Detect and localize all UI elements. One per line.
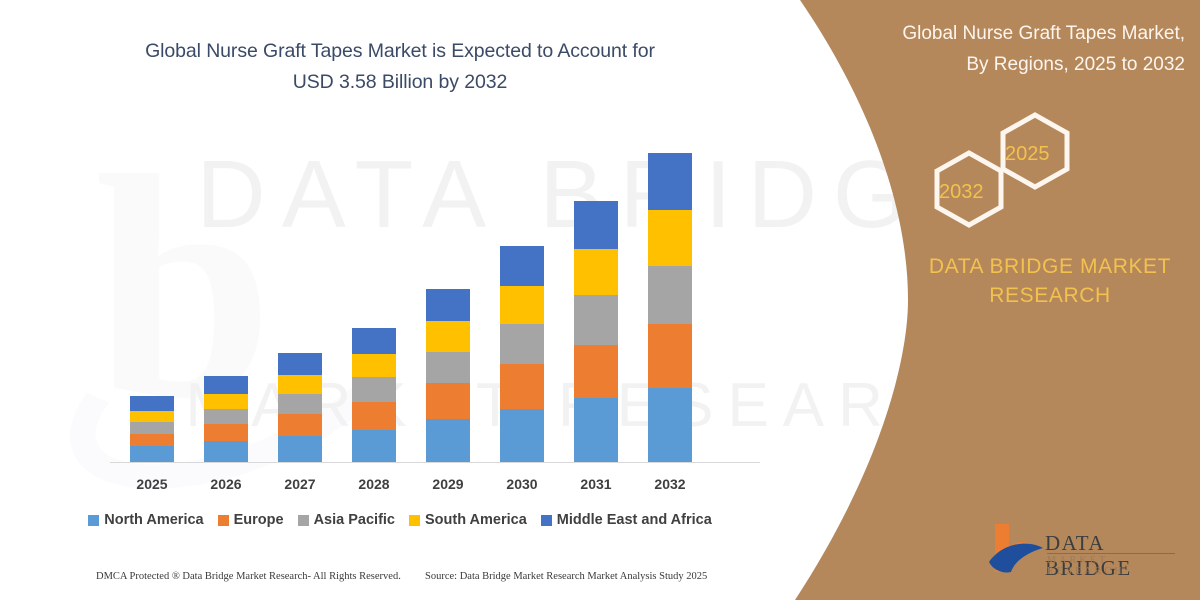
brand-name-line-2: RESEARCH bbox=[989, 284, 1111, 307]
x-axis-label-2026: 2026 bbox=[191, 476, 261, 492]
bar-segment-2029-europe bbox=[426, 383, 470, 418]
infographic-canvas: b DATA BRIDGE MARKET RESEARCH Global Nur… bbox=[0, 0, 1200, 600]
legend-item-europe[interactable]: Europe bbox=[218, 512, 284, 528]
bar-2032 bbox=[648, 153, 692, 462]
legend-item-middle-east-and-africa[interactable]: Middle East and Africa bbox=[541, 512, 712, 528]
legend-swatch-icon bbox=[409, 515, 420, 526]
legend-label: Europe bbox=[234, 512, 284, 528]
bar-segment-2030-south-america bbox=[500, 286, 544, 324]
panel-title-line-2: By Regions, 2025 to 2032 bbox=[966, 54, 1185, 75]
bar-segment-2031-north-america bbox=[574, 398, 618, 462]
x-axis-label-2032: 2032 bbox=[635, 476, 705, 492]
bar-segment-2030-middle-east-and-africa bbox=[500, 246, 544, 286]
footer-copyright: DMCA Protected ® Data Bridge Market Rese… bbox=[96, 571, 401, 582]
bar-segment-2031-south-america bbox=[574, 249, 618, 296]
x-axis-label-2030: 2030 bbox=[487, 476, 557, 492]
bar-segment-2029-asia-pacific bbox=[426, 352, 470, 384]
footer: DMCA Protected ® Data Bridge Market Rese… bbox=[0, 566, 800, 596]
bar-segment-2026-north-america bbox=[204, 441, 248, 462]
x-axis-label-2025: 2025 bbox=[117, 476, 187, 492]
bar-segment-2030-north-america bbox=[500, 409, 544, 463]
legend-swatch-icon bbox=[218, 515, 229, 526]
bar-segment-2029-middle-east-and-africa bbox=[426, 289, 470, 322]
bar-2030 bbox=[500, 246, 544, 462]
bar-2025 bbox=[130, 396, 174, 462]
bar-segment-2025-europe bbox=[130, 434, 174, 447]
dbmr-logo: DATA BRIDGE MARKET RESEARCH bbox=[985, 522, 1185, 584]
chart-pane: Global Nurse Graft Tapes Market is Expec… bbox=[0, 0, 800, 600]
bar-segment-2032-north-america bbox=[648, 388, 692, 462]
bar-segment-2025-south-america bbox=[130, 411, 174, 422]
legend-item-north-america[interactable]: North America bbox=[88, 512, 203, 528]
chart-legend: North AmericaEuropeAsia PacificSouth Ame… bbox=[0, 512, 800, 528]
dbmr-logo-mark-icon bbox=[985, 522, 1047, 580]
bar-segment-2032-south-america bbox=[648, 210, 692, 266]
legend-swatch-icon bbox=[298, 515, 309, 526]
bar-segment-2032-middle-east-and-africa bbox=[648, 153, 692, 210]
bar-segment-2027-middle-east-and-africa bbox=[278, 353, 322, 375]
bar-segment-2028-north-america bbox=[352, 430, 396, 462]
legend-item-south-america[interactable]: South America bbox=[409, 512, 527, 528]
bar-segment-2025-middle-east-and-africa bbox=[130, 396, 174, 411]
bar-2026 bbox=[204, 376, 248, 462]
bar-segment-2026-asia-pacific bbox=[204, 409, 248, 425]
bar-segment-2027-north-america bbox=[278, 436, 322, 462]
bar-segment-2028-middle-east-and-africa bbox=[352, 328, 396, 354]
stacked-bar-chart: 20252026202720282029203020312032 North A… bbox=[0, 0, 800, 600]
bar-segment-2025-asia-pacific bbox=[130, 422, 174, 433]
bar-segment-2032-asia-pacific bbox=[648, 266, 692, 324]
dbmr-logo-subtitle: MARKET RESEARCH bbox=[1047, 555, 1185, 577]
legend-swatch-icon bbox=[541, 515, 552, 526]
bar-segment-2031-asia-pacific bbox=[574, 295, 618, 344]
legend-swatch-icon bbox=[88, 515, 99, 526]
x-axis-label-2029: 2029 bbox=[413, 476, 483, 492]
bar-2027 bbox=[278, 353, 322, 462]
bar-2031 bbox=[574, 201, 618, 462]
bar-segment-2028-south-america bbox=[352, 354, 396, 377]
bar-2028 bbox=[352, 328, 396, 462]
hexagon-group: 2032 2025 bbox=[915, 105, 1125, 235]
x-axis-label-2027: 2027 bbox=[265, 476, 335, 492]
bar-segment-2027-asia-pacific bbox=[278, 394, 322, 414]
x-axis-labels: 20252026202720282029203020312032 bbox=[0, 476, 800, 500]
footer-source: Source: Data Bridge Market Research Mark… bbox=[425, 571, 707, 582]
legend-label: Asia Pacific bbox=[314, 512, 395, 528]
legend-label: Middle East and Africa bbox=[557, 512, 712, 528]
bar-segment-2031-middle-east-and-africa bbox=[574, 201, 618, 249]
bar-segment-2027-south-america bbox=[278, 375, 322, 394]
hexagon-outlines bbox=[915, 105, 1125, 235]
panel-title: Global Nurse Graft Tapes Market, By Regi… bbox=[855, 18, 1185, 80]
bar-segment-2026-south-america bbox=[204, 394, 248, 409]
bar-segment-2030-europe bbox=[500, 364, 544, 409]
bar-segment-2029-north-america bbox=[426, 419, 470, 462]
bar-segment-2031-europe bbox=[574, 345, 618, 399]
bar-segment-2028-europe bbox=[352, 402, 396, 430]
brand-name: DATA BRIDGE MARKET RESEARCH bbox=[905, 252, 1195, 310]
bar-segment-2026-middle-east-and-africa bbox=[204, 376, 248, 394]
dbmr-logo-rule bbox=[1047, 553, 1175, 554]
legend-label: North America bbox=[104, 512, 203, 528]
x-axis-label-2028: 2028 bbox=[339, 476, 409, 492]
bar-2029 bbox=[426, 289, 470, 462]
bar-segment-2032-europe bbox=[648, 324, 692, 388]
bar-segment-2026-europe bbox=[204, 424, 248, 441]
legend-label: South America bbox=[425, 512, 527, 528]
legend-item-asia-pacific[interactable]: Asia Pacific bbox=[298, 512, 395, 528]
brand-name-line-1: DATA BRIDGE MARKET bbox=[929, 255, 1171, 278]
x-axis-line bbox=[110, 462, 760, 463]
hexagon-label-2032: 2032 bbox=[877, 181, 1087, 204]
hexagon-label-2025: 2025 bbox=[943, 143, 1153, 166]
bar-segment-2027-europe bbox=[278, 414, 322, 436]
bar-segment-2028-asia-pacific bbox=[352, 377, 396, 402]
panel-title-line-1: Global Nurse Graft Tapes Market, bbox=[902, 23, 1185, 44]
bar-segment-2025-north-america bbox=[130, 446, 174, 462]
x-axis-label-2031: 2031 bbox=[561, 476, 631, 492]
bar-segment-2030-asia-pacific bbox=[500, 324, 544, 364]
bar-segment-2029-south-america bbox=[426, 321, 470, 351]
